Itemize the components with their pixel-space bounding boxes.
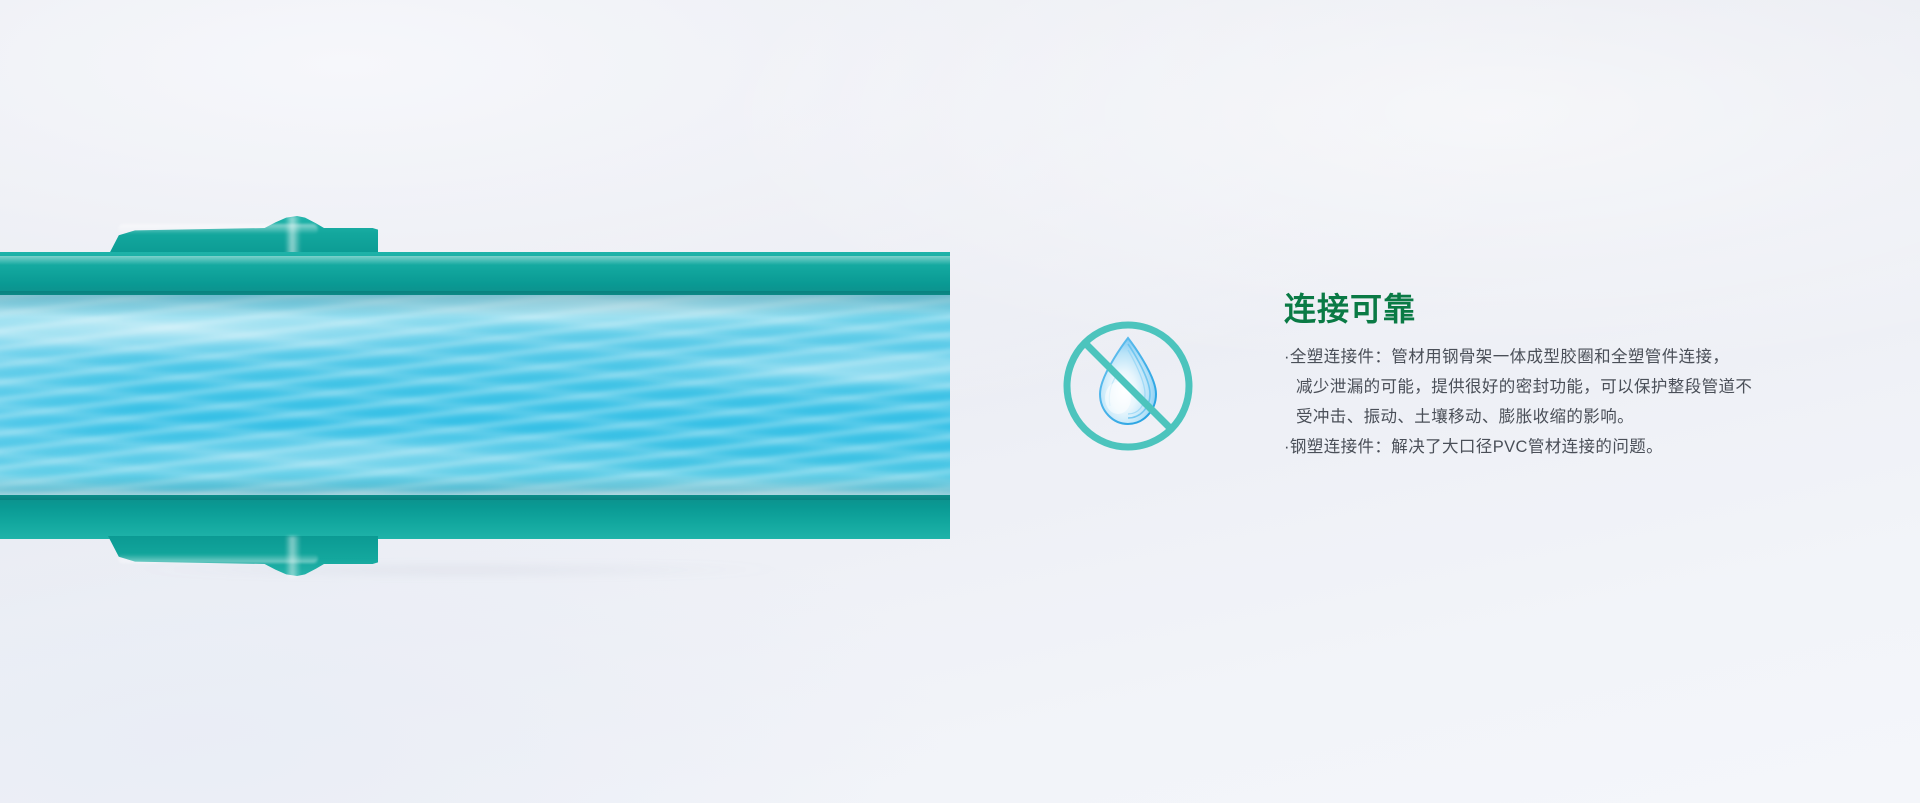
pipe-bell-coupling-top [108, 216, 378, 256]
pipe-illustration [0, 196, 950, 556]
feature-description-list: ·全塑连接件：管材用钢骨架一体成型胶圈和全塑管件连接，减少泄漏的可能，提供很好的… [1284, 342, 1860, 462]
pipe-contact-shadow [10, 568, 910, 586]
pipe-wall-sheen-top [0, 256, 950, 265]
feature-title: 连接可靠 [1284, 290, 1860, 328]
banner-stage: 连接可靠 ·全塑连接件：管材用钢骨架一体成型胶圈和全塑管件连接，减少泄漏的可能，… [0, 0, 1920, 803]
feature-description-line: ·钢塑连接件：解决了大口径PVC管材连接的问题。 [1284, 432, 1860, 462]
pipe-water-bore [0, 295, 950, 495]
no-leak-water-drop-icon [1060, 318, 1196, 454]
feature-description-line: 减少泄漏的可能，提供很好的密封功能，可以保护整段管道不 [1284, 372, 1860, 402]
feature-description-line: ·全塑连接件：管材用钢骨架一体成型胶圈和全塑管件连接， [1284, 342, 1860, 372]
feature-text-column: 连接可靠 ·全塑连接件：管材用钢骨架一体成型胶圈和全塑管件连接，减少泄漏的可能，… [1284, 290, 1860, 462]
feature-description-line: 受冲击、振动、土壤移动、膨胀收缩的影响。 [1284, 402, 1860, 432]
pipe-wall-bottom [0, 495, 950, 539]
feature-content: 连接可靠 ·全塑连接件：管材用钢骨架一体成型胶圈和全塑管件连接，减少泄漏的可能，… [1060, 290, 1860, 462]
pipe-bore-inner-shadow [0, 295, 950, 495]
water-drop-glyph [1100, 338, 1156, 424]
